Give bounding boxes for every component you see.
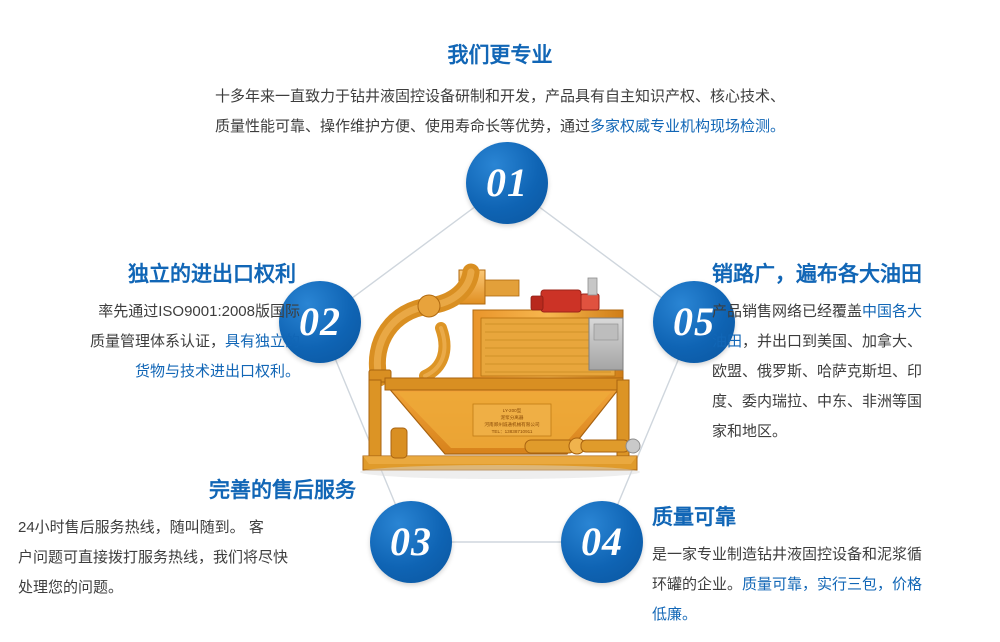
b02-line2-highlight: 具有独立的 — [225, 333, 300, 350]
b03-line2: 户问题可直接拨打服务热线，我们将尽快 — [18, 549, 288, 566]
b05-line1: 产品销售网络已经覆盖 — [712, 303, 862, 320]
feature-block-05-body: 产品销售网络已经覆盖中国各大 油田，并出口到美国、加拿大、 欧盟、俄罗斯、哈萨克… — [712, 297, 990, 447]
step-circle-05-label: 05 — [673, 298, 715, 345]
svg-text:LY-200型: LY-200型 — [503, 407, 522, 413]
b01-line1: 十多年来一直致力于钻井液固控设备研制和开发，产品具有自主知识产权、核心技术、 — [215, 88, 785, 105]
svg-text:河南郑州诚通机械有限公司: 河南郑州诚通机械有限公司 — [484, 421, 540, 428]
b04-line3-highlight: 低廉。 — [652, 606, 697, 623]
feature-block-03-title: 完善的售后服务 — [18, 478, 356, 503]
b03-line1: 24小时售后服务热线，随叫随到。 客 — [18, 519, 264, 536]
b01-line2: 质量性能可靠、操作维护方便、使用寿命长等优势，通过 — [215, 118, 590, 135]
step-circle-01-label: 01 — [486, 159, 528, 206]
svg-text:泥浆分离器: 泥浆分离器 — [501, 414, 524, 421]
b05-line3: 欧盟、俄罗斯、哈萨克斯坦、印 — [712, 363, 922, 380]
feature-block-02-body: 率先通过ISO9001:2008版国际 质量管理体系认证，具有独立的 货物与技术… — [18, 297, 300, 387]
step-circle-04[interactable]: 04 — [561, 501, 643, 583]
b02-line2: 质量管理体系认证， — [90, 333, 225, 350]
feature-block-03: 完善的售后服务 24小时售后服务热线，随叫随到。 客 户问题可直接拨打服务热线，… — [18, 478, 356, 603]
b03-line3: 处理您的问题。 — [18, 579, 123, 596]
feature-block-01-body: 十多年来一直致力于钻井液固控设备研制和开发，产品具有自主知识产权、核心技术、 质… — [150, 82, 850, 142]
feature-block-04-title: 质量可靠 — [652, 505, 990, 530]
b02-line3-highlight: 货物与技术进出口权利。 — [135, 363, 300, 380]
b02-line1: 率先通过ISO9001:2008版国际 — [98, 303, 300, 320]
b05-line4: 度、委内瑞拉、中东、非洲等国 — [712, 393, 922, 410]
feature-block-04-body: 是一家专业制造钻井液固控设备和泥浆循 环罐的企业。质量可靠，实行三包，价格 低廉… — [652, 540, 990, 630]
b04-line1: 是一家专业制造钻井液固控设备和泥浆循 — [652, 546, 922, 563]
b04-line2-highlight: 质量可靠，实行三包，价格 — [742, 576, 922, 593]
b04-line2: 环罐的企业。 — [652, 576, 742, 593]
machine-illustration: LY-200型 泥浆分离器 河南郑州诚通机械有限公司 TEL：138387109… — [345, 258, 655, 483]
infographic-stage: LY-200型 泥浆分离器 河南郑州诚通机械有限公司 TEL：138387109… — [0, 0, 1000, 642]
feature-block-05: 销路广，遍布各大油田 产品销售网络已经覆盖中国各大 油田，并出口到美国、加拿大、… — [712, 262, 990, 447]
b05-line2: ，并出口到美国、加拿大、 — [742, 333, 922, 350]
step-circle-04-label: 04 — [581, 518, 623, 565]
feature-block-01: 我们更专业 十多年来一直致力于钻井液固控设备研制和开发，产品具有自主知识产权、核… — [150, 43, 850, 142]
b01-line2-highlight: 多家权威专业机构现场检测。 — [590, 118, 785, 135]
b05-line5: 家和地区。 — [712, 423, 787, 440]
b05-line2-highlight: 油田 — [712, 333, 742, 350]
feature-block-04: 质量可靠 是一家专业制造钻井液固控设备和泥浆循 环罐的企业。质量可靠，实行三包，… — [652, 505, 990, 630]
feature-block-02-title: 独立的进出口权利 — [18, 262, 300, 287]
svg-text:TEL：13838710911: TEL：13838710911 — [492, 429, 533, 434]
step-circle-02-label: 02 — [299, 298, 341, 345]
feature-block-03-body: 24小时售后服务热线，随叫随到。 客 户问题可直接拨打服务热线，我们将尽快 处理… — [18, 513, 356, 603]
feature-block-01-title: 我们更专业 — [150, 43, 850, 68]
feature-block-02: 独立的进出口权利 率先通过ISO9001:2008版国际 质量管理体系认证，具有… — [18, 262, 300, 387]
step-circle-03[interactable]: 03 — [370, 501, 452, 583]
step-circle-01[interactable]: 01 — [466, 142, 548, 224]
step-circle-03-label: 03 — [390, 518, 432, 565]
feature-block-05-title: 销路广，遍布各大油田 — [712, 262, 990, 287]
b05-line1-highlight: 中国各大 — [862, 303, 922, 320]
